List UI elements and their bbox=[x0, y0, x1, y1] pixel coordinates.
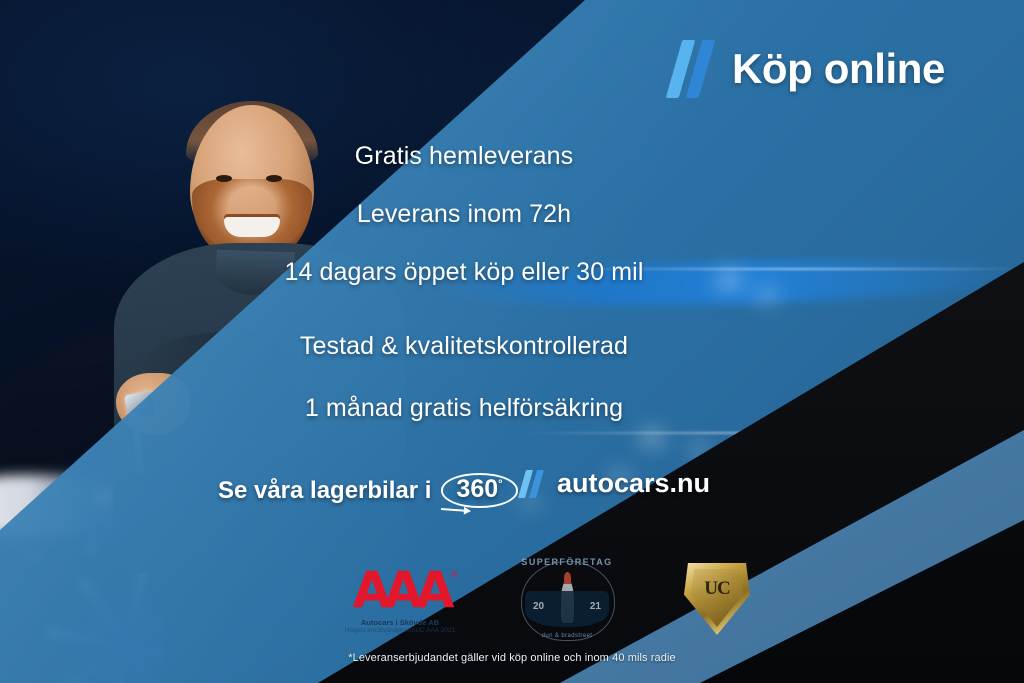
degree-symbol: ° bbox=[498, 479, 502, 491]
disclaimer-text: *Leveranserbjudandet gäller vid köp onli… bbox=[0, 652, 1024, 664]
aaa-credit-rating-logo: ® AAA Autocars i Skövde AB Högsta kredit… bbox=[340, 565, 460, 635]
promo-content: Köp online Gratis hemleverans Leverans i… bbox=[0, 0, 1024, 683]
double-slash-icon bbox=[672, 40, 716, 98]
award-year: 20 21 bbox=[525, 601, 609, 612]
cta-line-1: Se våra lagerbilar i 360° bbox=[218, 473, 518, 507]
uc-letters: UC bbox=[704, 578, 729, 600]
360-number: 360 bbox=[456, 475, 498, 503]
promo-banner: C A R S B A T Köp online Gratis hemlever… bbox=[0, 0, 1024, 683]
360-badge: 360° bbox=[441, 473, 517, 507]
rotate-arrow-icon bbox=[441, 508, 469, 512]
page-title: Köp online bbox=[732, 45, 945, 93]
award-source: dun & bradstreet bbox=[515, 633, 619, 639]
aaa-note: Högsta kreditvärdighet\nUC AAA 2021 bbox=[340, 627, 460, 635]
registered-trademark-icon: ® bbox=[451, 569, 458, 579]
year-left: 20 bbox=[533, 601, 544, 612]
list-item: Testad & kvalitetskontrollerad bbox=[0, 332, 928, 361]
list-item: 1 månad gratis helförsäkring bbox=[0, 394, 928, 423]
website-link[interactable]: autocars.nu bbox=[557, 468, 710, 499]
list-item: 14 dagars öppet köp eller 30 mil bbox=[0, 258, 928, 287]
list-item: Gratis hemleverans bbox=[0, 142, 928, 171]
aaa-letters: AAA bbox=[340, 565, 460, 615]
year-right: 21 bbox=[590, 601, 601, 612]
list-item: Leverans inom 72h bbox=[0, 200, 928, 229]
double-slash-icon bbox=[522, 470, 548, 498]
superforetag-title: SUPERFÖRETAG bbox=[517, 557, 617, 567]
headline-row: Köp online bbox=[672, 40, 945, 98]
superforetag-logo: SUPERFÖRETAG 20 21 dun & bradstreet bbox=[515, 557, 619, 643]
uc-shield-logo: UC bbox=[674, 557, 760, 643]
aaa-company-name: Autocars i Skövde AB bbox=[340, 618, 460, 627]
cta-line-2[interactable]: autocars.nu bbox=[522, 468, 710, 499]
cta-block: Se våra lagerbilar i 360° autocars.nu bbox=[0, 462, 928, 508]
shield-inner: UC bbox=[691, 569, 743, 627]
partner-logos: ® AAA Autocars i Skövde AB Högsta kredit… bbox=[340, 552, 760, 648]
cta-prefix-text: Se våra lagerbilar i bbox=[218, 477, 431, 505]
